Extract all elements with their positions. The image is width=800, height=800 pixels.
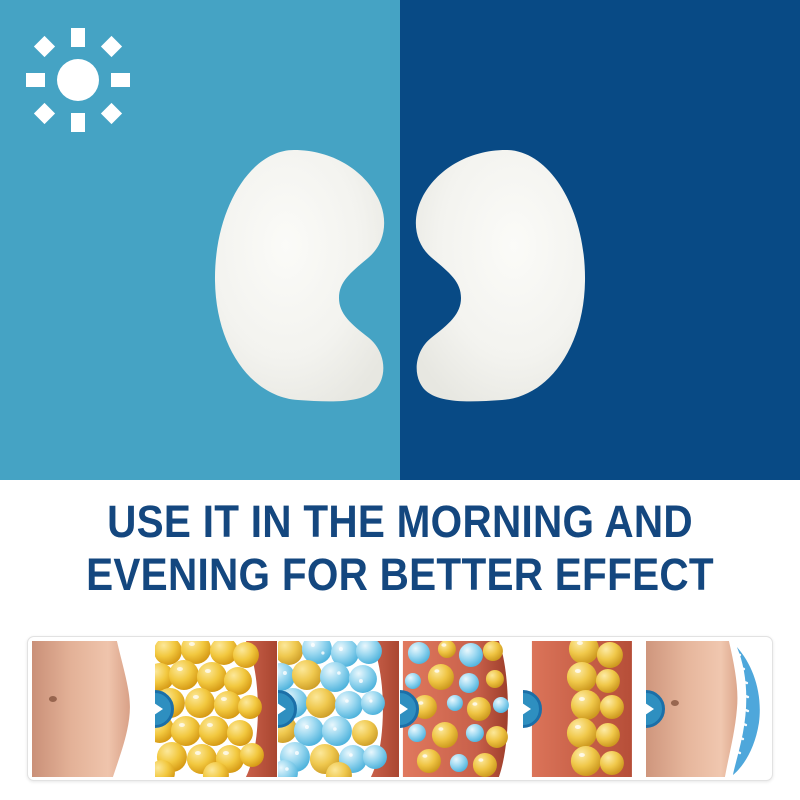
eye-patch-right (408, 148, 588, 402)
headline: USE IT IN THE MORNING AND EVENING FOR BE… (40, 495, 760, 601)
sun-core (57, 59, 99, 101)
filmstrip-step-5[interactable] (523, 641, 646, 777)
sun-ray-north (71, 28, 85, 47)
headline-line-2: EVENING FOR BETTER EFFECT (40, 548, 760, 601)
filmstrip-step-4[interactable] (400, 641, 523, 777)
belly-before-illustration (32, 641, 154, 777)
sun-icon (26, 28, 130, 132)
eye-patch-left (212, 148, 392, 402)
hero-split-banner (0, 0, 800, 480)
sun-ray-northeast (101, 36, 122, 57)
treatment-steps-filmstrip (27, 636, 773, 781)
sun-ray-southeast (101, 103, 122, 124)
sun-ray-northwest (34, 36, 55, 57)
filmstrip-step-2[interactable] (155, 641, 278, 777)
sun-ray-west (26, 73, 45, 87)
filmstrip-step-3[interactable] (278, 641, 401, 777)
sun-ray-south (71, 113, 85, 132)
filmstrip-step-6[interactable] (646, 641, 768, 777)
sun-ray-southwest (34, 103, 55, 124)
filmstrip-step-1[interactable] (32, 641, 155, 777)
sun-ray-east (111, 73, 130, 87)
product-banner: USE IT IN THE MORNING AND EVENING FOR BE… (0, 0, 800, 800)
headline-line-1: USE IT IN THE MORNING AND (40, 495, 760, 548)
